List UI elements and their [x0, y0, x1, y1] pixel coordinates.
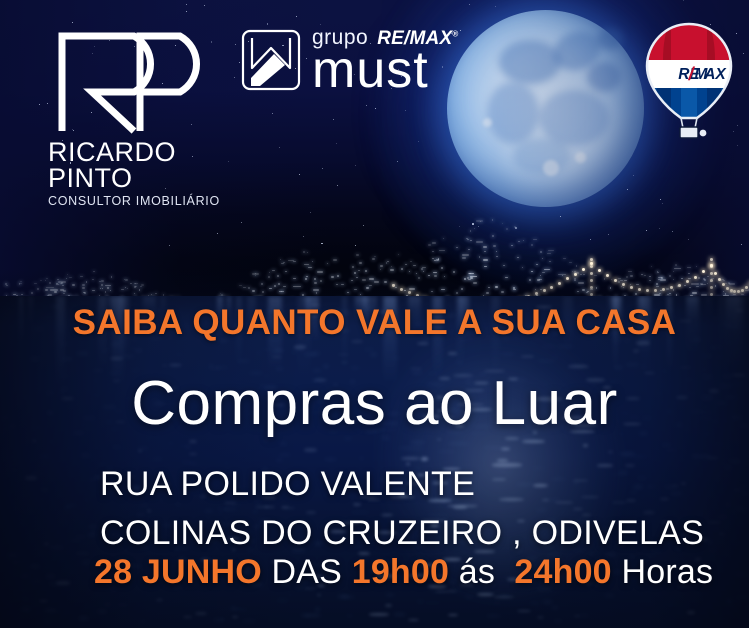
rp-name-line1: RICARDO	[48, 139, 223, 165]
das-label: DAS	[272, 553, 343, 591]
rp-subtitle: CONSULTOR IMOBILIÁRIO	[48, 194, 223, 208]
start-time: 19h00	[352, 553, 449, 591]
event-date: 28 JUNHO	[94, 553, 262, 591]
hours-label: Horas	[621, 553, 713, 591]
end-time: 24h00	[514, 553, 611, 591]
remax-balloon-icon: RE AX / M	[641, 20, 737, 147]
address-line-2: COLINAS DO CRUZEIRO , ODIVELAS	[100, 514, 704, 553]
must-m-monogram-icon	[240, 28, 302, 92]
rp-name-line2: PINTO	[48, 165, 223, 191]
address-line-1: RUA POLIDO VALENTE	[100, 465, 475, 504]
ricardo-pinto-logo: RICARDO PINTO CONSULTOR IMOBILIÁRIO	[48, 30, 223, 208]
grupo-must-logo: grupo RE/MAX® must	[240, 26, 458, 94]
as-label: ás	[459, 553, 495, 591]
svg-text:M: M	[695, 66, 709, 83]
page-title: Compras ao Luar	[0, 373, 749, 435]
headline: SAIBA QUANTO VALE A SUA CASA	[0, 303, 749, 343]
promotional-poster: RICARDO PINTO CONSULTOR IMOBILIÁRIO grup…	[0, 0, 749, 628]
rp-monogram-icon	[48, 30, 223, 135]
must-wordmark: must	[312, 46, 458, 94]
event-datetime: 28 JUNHO DAS 19h00 ás 24h00 Horas	[94, 553, 713, 592]
